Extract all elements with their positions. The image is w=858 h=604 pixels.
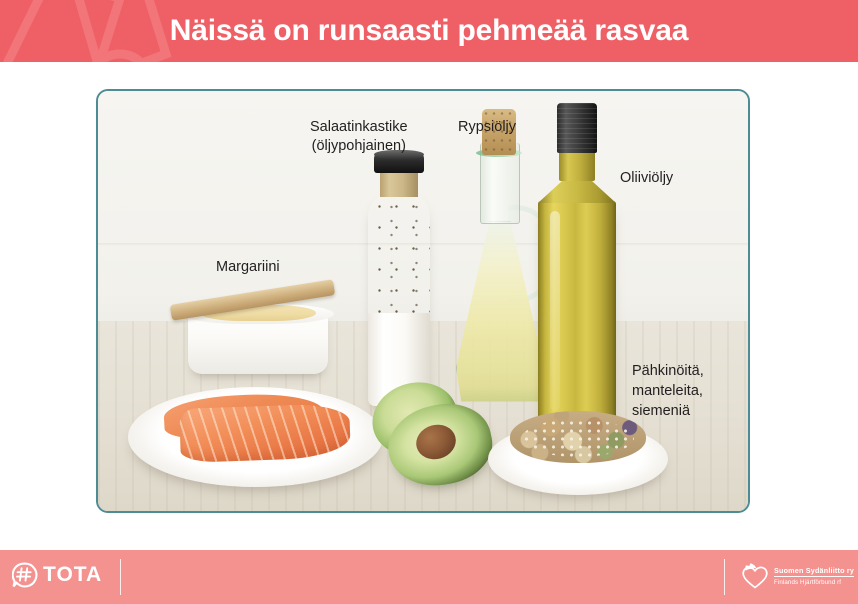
footer-divider-right <box>724 559 725 595</box>
label-margariini: Margariini <box>216 258 280 277</box>
olive-oil-bottle <box>536 103 618 453</box>
label-oliivioljy: Oliiviöljy <box>620 169 673 188</box>
photo-background: Margariini Salaatinkastike (öljypohjaine… <box>98 91 748 511</box>
olive-bottle-body <box>538 201 616 439</box>
page-header: Näissä on runsaasti pehmeää rasvaa <box>0 0 858 62</box>
photo-panel: Margariini Salaatinkastike (öljypohjaine… <box>96 89 750 513</box>
olive-bottle-neck <box>559 149 595 181</box>
olive-bottle-highlight <box>550 211 560 411</box>
label-salaatinkastike: Salaatinkastike (öljypohjainen) <box>310 118 408 156</box>
label-rypsioljy: Rypsiöljy <box>458 118 516 137</box>
brand-label: TOTA <box>43 563 102 587</box>
partner-name: Suomen Sydänliitto ry Finlands Hjärtförb… <box>774 566 854 587</box>
salmon-fillet-plate <box>128 379 383 489</box>
footer-divider-left <box>120 559 121 595</box>
partner-name-fi: Suomen Sydänliitto ry <box>774 566 854 577</box>
page-title: Näissä on runsaasti pehmeää rasvaa <box>0 0 858 62</box>
brand-logo[interactable]: TOTA <box>12 562 102 588</box>
partner-logo[interactable]: Suomen Sydänliitto ry Finlands Hjärtförb… <box>740 561 854 591</box>
label-pahkinoita: Pähkinöitä, manteleita, siemeniä <box>632 361 704 421</box>
margarine-tub <box>178 286 338 381</box>
slide-body: Margariini Salaatinkastike (öljypohjaine… <box>0 62 858 550</box>
partner-name-sv: Finlands Hjärtförbund rf <box>774 577 854 587</box>
dressing-bottle-neck <box>380 171 418 197</box>
hash-speech-bubble-icon <box>12 562 38 588</box>
heart-logo-icon <box>740 561 770 591</box>
seeds-sprinkle <box>522 419 634 457</box>
avocado-halves <box>368 383 498 493</box>
olive-bottle-cap <box>557 103 597 153</box>
olive-cap-ribs <box>557 103 597 153</box>
nuts-and-seeds-plate <box>488 409 668 495</box>
page-footer: TOTA Suomen Sydänliitto ry Finlands Hjär… <box>0 550 858 604</box>
